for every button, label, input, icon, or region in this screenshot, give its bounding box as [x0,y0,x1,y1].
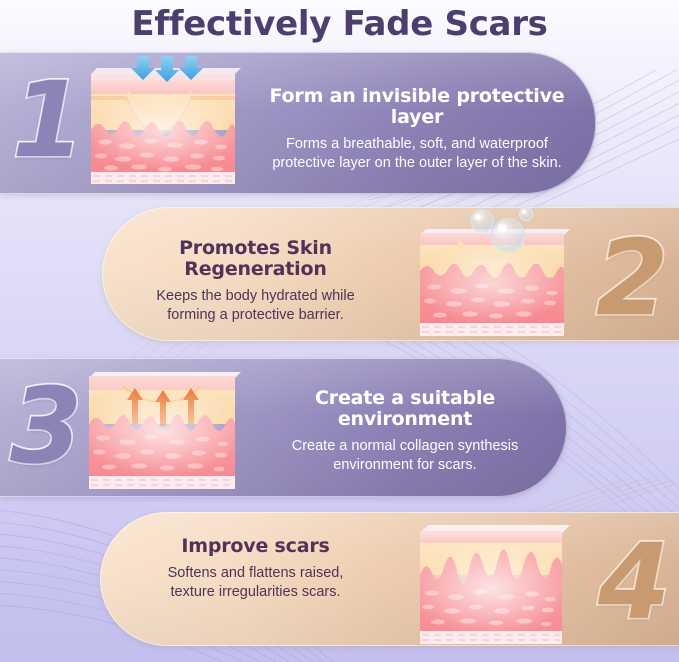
skin-scar-with-bubbles-icon [412,205,572,340]
down-arrows-icon [131,56,203,82]
step-body-4-line1: Softens and flattens raised, [108,564,403,584]
skin-scar-with-up-arrows-icon [83,362,243,494]
skin-scar-with-down-arrows-icon [83,56,243,188]
step-text-2: Promotes Skin Regeneration Keeps the bod… [108,238,403,326]
step-heading-1: Form an invisible protective layer [252,86,582,128]
step-text-1: Form an invisible protective layer Forms… [252,86,582,174]
step-body-1-line1: Forms a breathable, soft, and waterproof [252,135,582,155]
step-number-2: 2 [596,226,668,330]
up-arrows-icon [127,388,199,426]
step-heading-4: Improve scars [108,536,403,557]
infographic-canvas: Effectively Fade Scars 1 [0,0,679,662]
skin-diagram-2 [412,205,572,340]
step-heading-3: Create a suitable environment [255,388,555,430]
step-number-4: 4 [598,530,670,634]
step-body-2-line2: forming a protective barrier. [108,306,403,326]
skin-healed-smooth-icon [412,515,572,647]
step-text-4: Improve scars Softens and flattens raise… [108,536,403,603]
step-body-4-line2: texture irregularities scars. [108,583,403,603]
skin-diagram-4 [412,515,572,647]
step-text-3: Create a suitable environment Create a n… [255,388,555,476]
step-number-3: 3 [10,374,82,478]
step-heading-2: Promotes Skin Regeneration [108,238,403,280]
step-body-3-line1: Create a normal collagen synthesis [255,437,555,457]
skin-diagram-1 [83,56,243,188]
step-body-2-line1: Keeps the body hydrated while [108,287,403,307]
step-body-3-line2: environment for scars. [255,456,555,476]
skin-diagram-3 [83,362,243,494]
step-number-1: 1 [12,68,84,172]
step-body-1-line2: protective layer on the outer layer of t… [252,154,582,174]
page-title: Effectively Fade Scars [0,0,679,44]
